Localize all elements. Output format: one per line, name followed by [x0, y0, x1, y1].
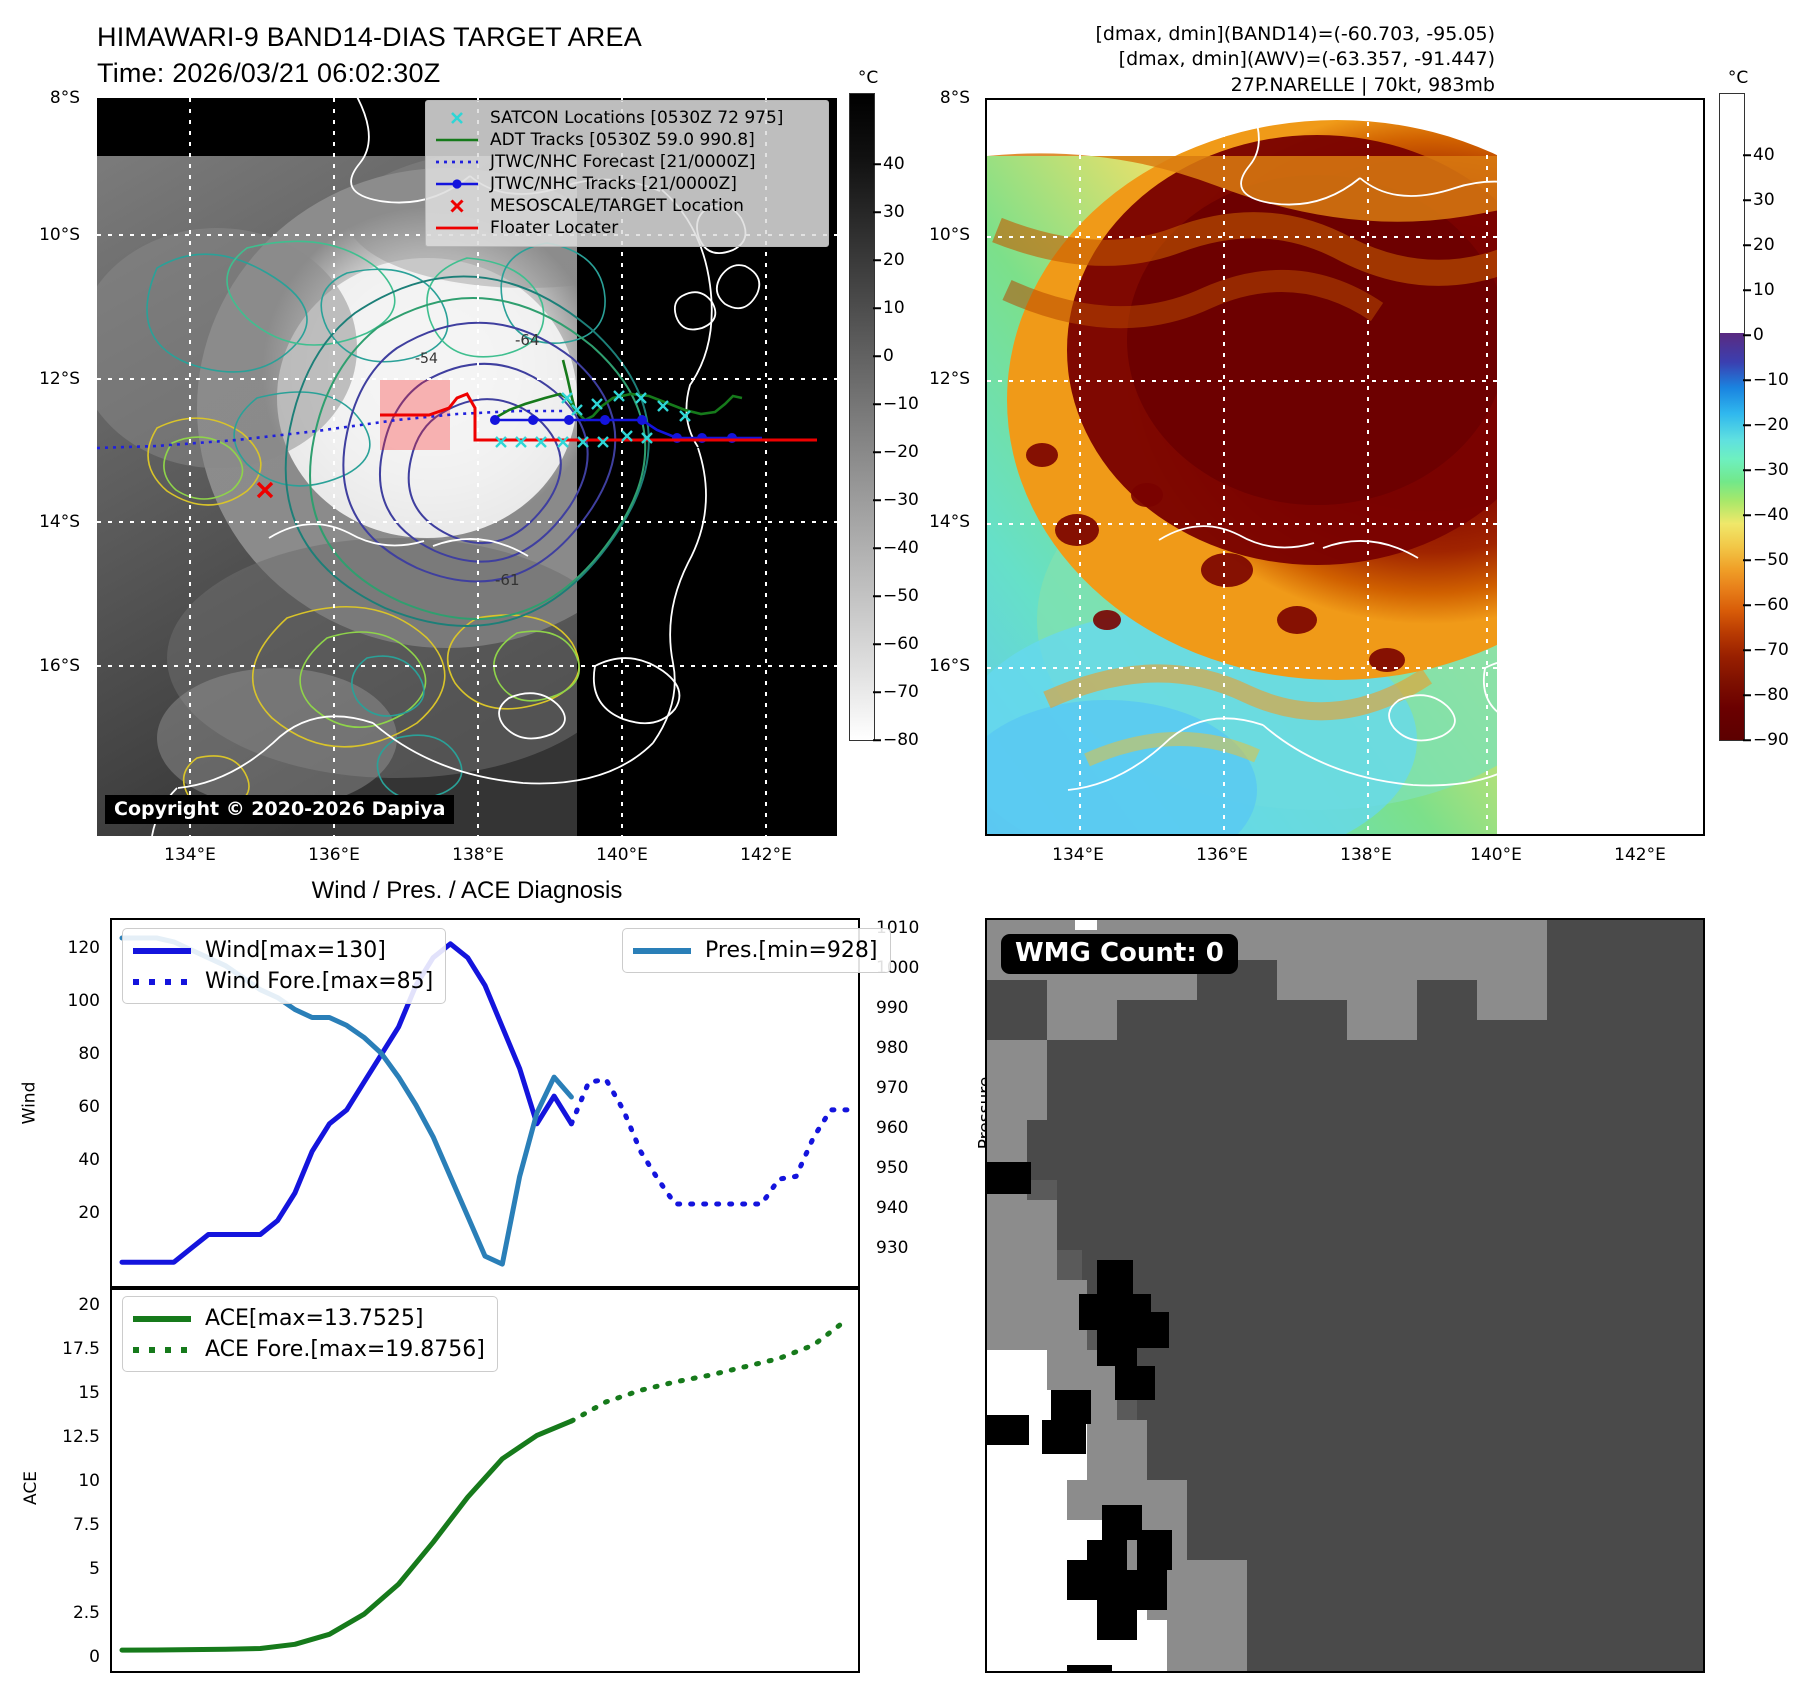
- wind-tick-40: 40: [78, 1150, 100, 1170]
- ace-solid-line-icon: [131, 1309, 193, 1329]
- left-colorbar-unit: °C: [848, 68, 888, 88]
- rcb-tick-m60: −60: [1753, 595, 1789, 615]
- legend-item-floater: Floater Locater: [434, 217, 820, 239]
- pres-tick-940: 940: [876, 1198, 908, 1218]
- ace-dotted-line-icon: [131, 1340, 193, 1360]
- rcb-tick-m10: −10: [1753, 370, 1789, 390]
- left-map-lat-axis: 8°S 10°S 12°S 14°S 16°S: [0, 98, 92, 836]
- right-coastline-overlay: [987, 100, 1703, 834]
- satcon-x-icon: [434, 108, 480, 128]
- legend-item-jtwc-tracks: JTWC/NHC Tracks [21/0000Z]: [434, 173, 820, 195]
- legend-label-jtwc-forecast: JTWC/NHC Forecast [21/0000Z]: [490, 154, 755, 171]
- wmg-count-badge: WMG Count: 0: [1001, 934, 1238, 974]
- right-map-lon-axis: 134°E 136°E 138°E 140°E 142°E: [985, 845, 1705, 875]
- pres-tick-950: 950: [876, 1158, 908, 1178]
- wind-tick-100: 100: [68, 991, 100, 1011]
- pres-tick-970: 970: [876, 1078, 908, 1098]
- legend-label-satcon: SATCON Locations [0530Z 72 975]: [490, 110, 783, 127]
- lat-tick-16s: 16°S: [39, 656, 80, 676]
- diagnosis-title: Wind / Pres. / ACE Diagnosis: [97, 877, 837, 905]
- ace-tick-125: 12.5: [62, 1427, 100, 1447]
- rcb-tick-m50: −50: [1753, 550, 1789, 570]
- pres-tick-980: 980: [876, 1038, 908, 1058]
- left-map-lon-axis: 134°E 136°E 138°E 140°E 142°E: [97, 845, 837, 875]
- ace-legend: ACE[max=13.7525] ACE Fore.[max=19.8756]: [122, 1296, 498, 1372]
- ace-legend-item-forecast: ACE Fore.[max=19.8756]: [131, 1334, 485, 1365]
- legend-label-jtwc-tracks: JTWC/NHC Tracks [21/0000Z]: [490, 176, 737, 193]
- ace-tick-175: 17.5: [62, 1339, 100, 1359]
- rcb-tick-40: 40: [1753, 145, 1775, 165]
- legend-item-adt: ADT Tracks [0530Z 59.0 990.8]: [434, 129, 820, 151]
- ace-tick-25: 2.5: [73, 1603, 100, 1623]
- wind-legend-item-forecast: Wind Fore.[max=85]: [131, 966, 433, 997]
- legend-label-adt: ADT Tracks [0530Z 59.0 990.8]: [490, 132, 755, 149]
- ace-tick-00: 0: [89, 1647, 100, 1667]
- rlon-tick-138e: 138°E: [1340, 845, 1392, 865]
- ace-tick-75: 7.5: [73, 1515, 100, 1535]
- legend-item-jtwc-forecast: JTWC/NHC Forecast [21/0000Z]: [434, 151, 820, 173]
- wind-tick-80: 80: [78, 1044, 100, 1064]
- wind-tick-120: 120: [68, 938, 100, 958]
- ace-tick-200: 20: [78, 1295, 100, 1315]
- rlon-tick-142e: 142°E: [1614, 845, 1666, 865]
- wind-y-ticks: 120 100 80 60 40 20: [30, 918, 108, 1288]
- right-colorbar: 40 30 20 10 0 −10 −20 −30 −40 −50 −60 −7…: [1719, 93, 1745, 741]
- rcb-tick-m30: −30: [1753, 460, 1789, 480]
- page-time-text: Time: 2026/03/21 06:02:30Z: [97, 58, 642, 89]
- left-colorbar: 40 30 20 10 0 −10 −20 −30 −40 −50 −60 −7…: [849, 93, 875, 741]
- rcb-tick-10: 10: [1753, 280, 1775, 300]
- ace-legend-item-observed: ACE[max=13.7525]: [131, 1303, 485, 1334]
- ace-tick-150: 15: [78, 1383, 100, 1403]
- lon-tick-142e: 142°E: [740, 845, 792, 865]
- lat-tick-14s: 14°S: [39, 512, 80, 532]
- adt-line-icon: [434, 130, 480, 150]
- lon-tick-138e: 138°E: [452, 845, 504, 865]
- rcb-tick-m70: −70: [1753, 640, 1789, 660]
- wind-dotted-line-icon: [131, 972, 193, 992]
- dmax-band14-text: [dmax, dmin](BAND14)=(-60.703, -95.05): [855, 22, 1495, 47]
- legend-label-mesoscale: MESOSCALE/TARGET Location: [490, 198, 744, 215]
- right-satellite-map[interactable]: [985, 98, 1705, 836]
- wind-legend: Wind[max=130] Wind Fore.[max=85]: [122, 928, 446, 1004]
- legend-label-floater: Floater Locater: [490, 220, 618, 237]
- rcb-tick-m90: −90: [1753, 730, 1789, 750]
- lat-tick-12s: 12°S: [39, 369, 80, 389]
- copyright-badge: Copyright © 2020-2026 Dapiya: [105, 795, 454, 824]
- wind-legend-label-observed: Wind[max=130]: [205, 938, 386, 963]
- ace-y-ticks: 20 17.5 15 12.5 10 7.5 5 2.5 0: [30, 1288, 108, 1673]
- mesoscale-x-icon: [434, 196, 480, 216]
- rcb-tick-0: 0: [1753, 325, 1764, 345]
- rlat-tick-16s: 16°S: [929, 656, 970, 676]
- rlon-tick-140e: 140°E: [1470, 845, 1522, 865]
- rcb-tick-20: 20: [1753, 235, 1775, 255]
- legend-item-satcon: SATCON Locations [0530Z 72 975]: [434, 107, 820, 129]
- wind-tick-20: 20: [78, 1203, 100, 1223]
- rlon-tick-136e: 136°E: [1196, 845, 1248, 865]
- jtwc-track-line-icon: [434, 174, 480, 194]
- pressure-y-ticks: 1010 1000 990 980 970 960 950 940 930: [868, 918, 948, 1288]
- map-legend: SATCON Locations [0530Z 72 975] ADT Trac…: [425, 100, 829, 247]
- pres-tick-990: 990: [876, 998, 908, 1018]
- rcb-tick-m40: −40: [1753, 505, 1789, 525]
- rcb-tick-m20: −20: [1753, 415, 1789, 435]
- left-satellite-map[interactable]: -64 -61 -54: [97, 98, 837, 836]
- rlon-tick-134e: 134°E: [1052, 845, 1104, 865]
- ace-legend-label-forecast: ACE Fore.[max=19.8756]: [205, 1337, 485, 1362]
- page-title: HIMAWARI-9 BAND14-DIAS TARGET AREA Time:…: [97, 22, 642, 89]
- page-title-text: HIMAWARI-9 BAND14-DIAS TARGET AREA: [97, 22, 642, 53]
- rlat-tick-14s: 14°S: [929, 512, 970, 532]
- rlat-tick-12s: 12°S: [929, 369, 970, 389]
- lat-tick-10s: 10°S: [39, 225, 80, 245]
- lon-tick-140e: 140°E: [596, 845, 648, 865]
- wind-solid-line-icon: [131, 941, 193, 961]
- rlat-tick-8s: 8°S: [940, 88, 970, 108]
- ace-tick-100: 10: [78, 1471, 100, 1491]
- dmax-awv-text: [dmax, dmin](AWV)=(-63.357, -91.447): [855, 47, 1495, 72]
- wmg-panel[interactable]: WMG Count: 0: [985, 918, 1705, 1673]
- right-map-lat-axis: 8°S 10°S 12°S 14°S 16°S: [890, 98, 980, 836]
- pres-tick-930: 930: [876, 1238, 908, 1258]
- mesoscale-target-marker: [258, 483, 272, 497]
- legend-item-mesoscale: MESOSCALE/TARGET Location: [434, 195, 820, 217]
- pressure-legend: Pres.[min=928]: [622, 928, 891, 973]
- floater-line-icon: [434, 218, 480, 238]
- pressure-legend-label: Pres.[min=928]: [705, 938, 878, 963]
- pressure-legend-item: Pres.[min=928]: [631, 935, 878, 966]
- rlat-tick-10s: 10°S: [929, 225, 970, 245]
- wmg-cell-grid: [987, 920, 1703, 1671]
- wind-tick-60: 60: [78, 1097, 100, 1117]
- right-colorbar-unit: °C: [1718, 68, 1758, 88]
- rcb-tick-30: 30: [1753, 190, 1775, 210]
- rcb-tick-m80: −80: [1753, 685, 1789, 705]
- pressure-solid-line-icon: [631, 941, 693, 961]
- lon-tick-136e: 136°E: [308, 845, 360, 865]
- lat-tick-8s: 8°S: [50, 88, 80, 108]
- jtwc-forecast-line-icon: [434, 152, 480, 172]
- wind-legend-label-forecast: Wind Fore.[max=85]: [205, 969, 433, 994]
- ace-tick-50: 5: [89, 1559, 100, 1579]
- ace-legend-label-observed: ACE[max=13.7525]: [205, 1306, 423, 1331]
- lon-tick-134e: 134°E: [164, 845, 216, 865]
- wind-legend-item-observed: Wind[max=130]: [131, 935, 433, 966]
- pres-tick-960: 960: [876, 1118, 908, 1138]
- header-stats: [dmax, dmin](BAND14)=(-60.703, -95.05) […: [855, 22, 1495, 98]
